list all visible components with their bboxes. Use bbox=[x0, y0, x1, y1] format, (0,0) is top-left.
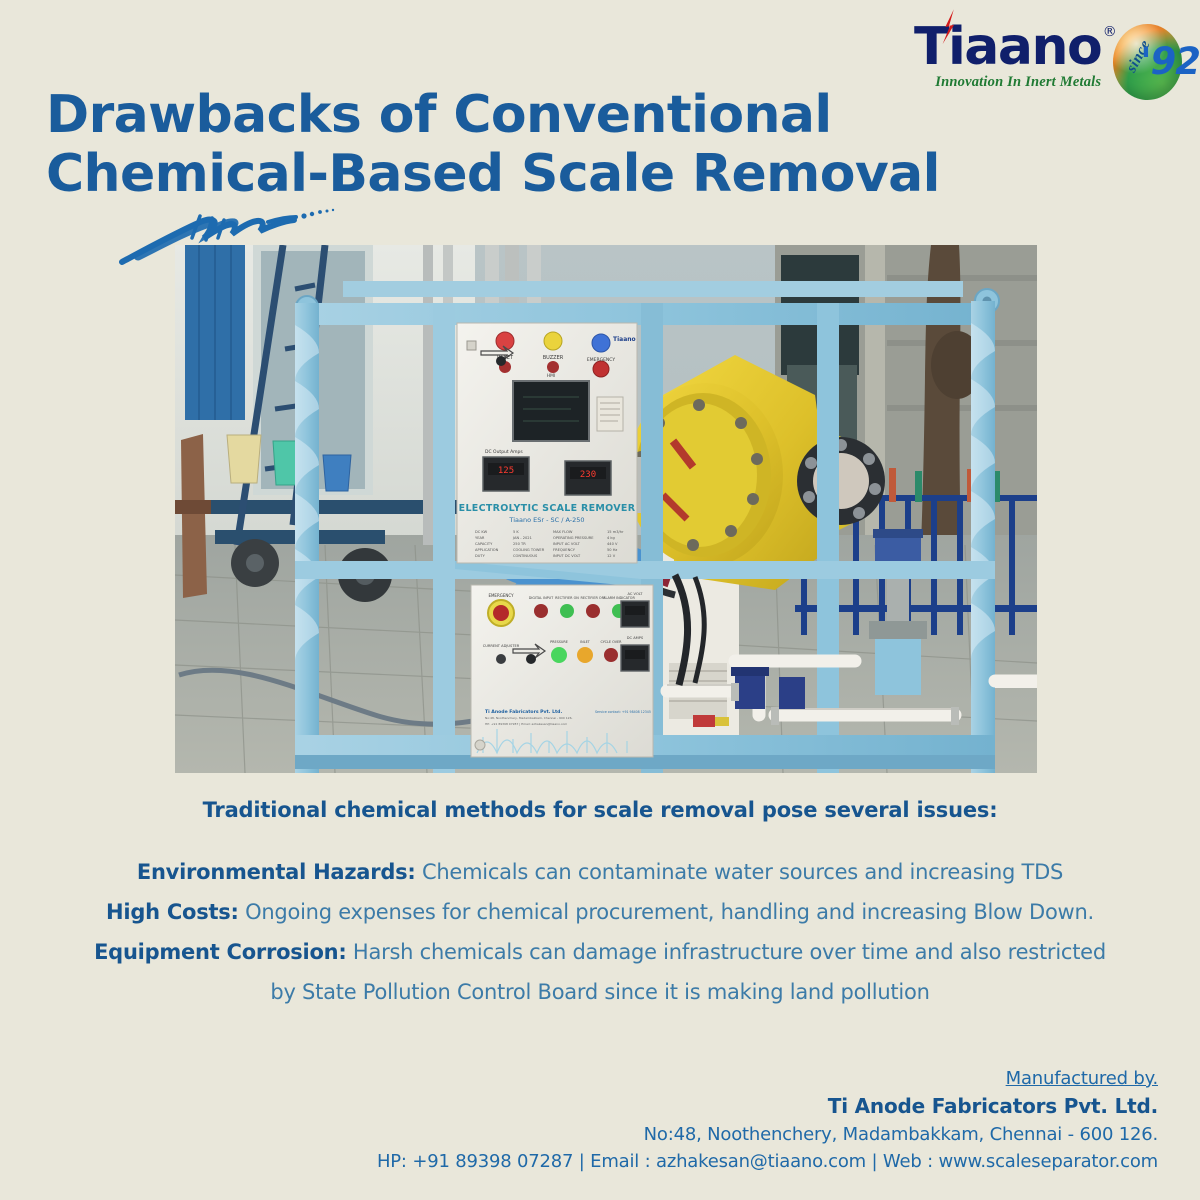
list-item-continuation: by State Pollution Control Board since i… bbox=[40, 975, 1160, 1009]
list-item: High Costs: Ongoing expenses for chemica… bbox=[40, 895, 1160, 929]
svg-text:PRESSURE: PRESSURE bbox=[550, 640, 568, 644]
svg-text:HP: +91 89398 07287 | Email: a: HP: +91 89398 07287 | Email: azhakesan@t… bbox=[485, 722, 567, 726]
since-badge-icon: since '92 bbox=[1113, 24, 1182, 100]
list-item-text: Ongoing expenses for chemical procuremen… bbox=[239, 900, 1094, 924]
page-title-line-1: Drawbacks of Conventional bbox=[46, 85, 832, 145]
svg-text:CYCLE OVER: CYCLE OVER bbox=[600, 640, 622, 644]
svg-text:AC VOLT: AC VOLT bbox=[628, 592, 644, 596]
svg-text:ELECTROLYTIC SCALE REMOVER: ELECTROLYTIC SCALE REMOVER bbox=[459, 503, 636, 514]
svg-text:5 K: 5 K bbox=[513, 530, 519, 534]
company-contact: HP: +91 89398 07287 | Email : azhakesan@… bbox=[377, 1151, 1158, 1172]
svg-text:MAX FLOW: MAX FLOW bbox=[553, 530, 573, 534]
list-item-label: High Costs: bbox=[106, 900, 239, 924]
issues-list: Environmental Hazards: Chemicals can con… bbox=[40, 855, 1160, 1015]
svg-text:230: 230 bbox=[580, 470, 596, 480]
company-address: No:48, Noothenchery, Madambakkam, Chenna… bbox=[377, 1124, 1158, 1145]
svg-text:BUZZER: BUZZER bbox=[543, 355, 564, 361]
logo-wordmark-wrap: Tiaano ® Innovation In Inert Metals bbox=[914, 22, 1107, 91]
svg-text:DIGITAL INPUT: DIGITAL INPUT bbox=[529, 596, 554, 600]
since-year: '92 bbox=[1140, 40, 1200, 83]
list-item: Environmental Hazards: Chemicals can con… bbox=[40, 855, 1160, 889]
company-name: Ti Anode Fabricators Pvt. Ltd. bbox=[377, 1094, 1158, 1118]
svg-text:DC Output Amps: DC Output Amps bbox=[485, 449, 523, 455]
svg-text:EMERGENCY: EMERGENCY bbox=[488, 593, 514, 598]
svg-text:CAPACITY: CAPACITY bbox=[475, 542, 493, 546]
svg-text:RECTIFIER ON: RECTIFIER ON bbox=[555, 596, 579, 600]
logo-wordmark: Tiaano ® bbox=[914, 22, 1101, 73]
svg-text:EMERGENCY: EMERGENCY bbox=[587, 357, 615, 363]
svg-text:FREQUENCY: FREQUENCY bbox=[553, 548, 576, 552]
svg-text:15 m3/hr: 15 m3/hr bbox=[607, 530, 624, 534]
svg-text:YEAR: YEAR bbox=[475, 536, 485, 540]
svg-text:INPUT DC VOLT: INPUT DC VOLT bbox=[553, 554, 581, 558]
svg-text:ALARM INDICATOR: ALARM INDICATOR bbox=[603, 596, 635, 600]
svg-text:50 Hz: 50 Hz bbox=[607, 548, 617, 552]
footer: Manufactured by. Ti Anode Fabricators Pv… bbox=[377, 1068, 1158, 1172]
svg-text:4 kg: 4 kg bbox=[607, 536, 615, 540]
svg-text:12 V: 12 V bbox=[607, 554, 616, 558]
svg-text:Service contact: +91 98408 123: Service contact: +91 98408 12345 bbox=[595, 710, 651, 714]
svg-text:Ti Anode Fabricators Pvt. Ltd.: Ti Anode Fabricators Pvt. Ltd. bbox=[485, 709, 562, 715]
page-title: Drawbacks of Conventional Chemical-Based… bbox=[46, 86, 1026, 205]
registered-trademark-icon: ® bbox=[1103, 26, 1116, 40]
poster-root: Tiaano ® Innovation In Inert Metals sinc… bbox=[0, 0, 1200, 1200]
svg-text:CONTINUOUS: CONTINUOUS bbox=[513, 554, 538, 558]
list-item-text: Harsh chemicals can damage infrastructur… bbox=[347, 940, 1106, 964]
list-item-label: Equipment Corrosion: bbox=[94, 940, 346, 964]
svg-text:No:48, Noothenchery, Madambakk: No:48, Noothenchery, Madambakkam, Chenna… bbox=[485, 716, 573, 720]
subheading: Traditional chemical methods for scale r… bbox=[0, 798, 1200, 822]
svg-text:CURRENT ADJUSTER: CURRENT ADJUSTER bbox=[483, 644, 520, 648]
manufactured-by-label: Manufactured by. bbox=[377, 1068, 1158, 1089]
list-item-text: Chemicals can contaminate water sources … bbox=[416, 860, 1064, 884]
product-photo: RESET BUZZER EMERGENCY Tiaano HMI bbox=[175, 245, 1037, 773]
list-item-text: by State Pollution Control Board since i… bbox=[270, 980, 929, 1004]
svg-text:250 TR: 250 TR bbox=[513, 542, 526, 546]
svg-text:OPERATING PRESSURE: OPERATING PRESSURE bbox=[553, 536, 594, 540]
svg-text:INPUT AC VOLT: INPUT AC VOLT bbox=[553, 542, 581, 546]
svg-text:JAN - 2021: JAN - 2021 bbox=[512, 536, 532, 540]
logo-word-text: Tiaano bbox=[914, 17, 1101, 77]
product-photo-illustration: RESET BUZZER EMERGENCY Tiaano HMI bbox=[175, 245, 1037, 773]
svg-text:APPLICATION: APPLICATION bbox=[475, 548, 499, 552]
svg-text:Tiaano ESr - SC / A-250: Tiaano ESr - SC / A-250 bbox=[508, 516, 584, 524]
svg-text:INLET: INLET bbox=[580, 640, 591, 644]
svg-text:HMI: HMI bbox=[547, 373, 556, 379]
svg-text:440 V: 440 V bbox=[607, 542, 618, 546]
svg-text:DUTY: DUTY bbox=[475, 554, 486, 558]
list-item: Equipment Corrosion: Harsh chemicals can… bbox=[40, 935, 1160, 969]
svg-text:COOLING TOWER: COOLING TOWER bbox=[513, 548, 545, 552]
svg-text:125: 125 bbox=[498, 466, 514, 476]
svg-text:Tiaano: Tiaano bbox=[613, 336, 636, 343]
page-title-line-2: Chemical-Based Scale Removal bbox=[46, 145, 1026, 204]
svg-text:DC AMPS: DC AMPS bbox=[627, 636, 644, 640]
svg-text:RECTIFIER OFF: RECTIFIER OFF bbox=[580, 596, 605, 600]
list-item-label: Environmental Hazards: bbox=[137, 860, 416, 884]
svg-text:DC KW: DC KW bbox=[475, 530, 488, 534]
